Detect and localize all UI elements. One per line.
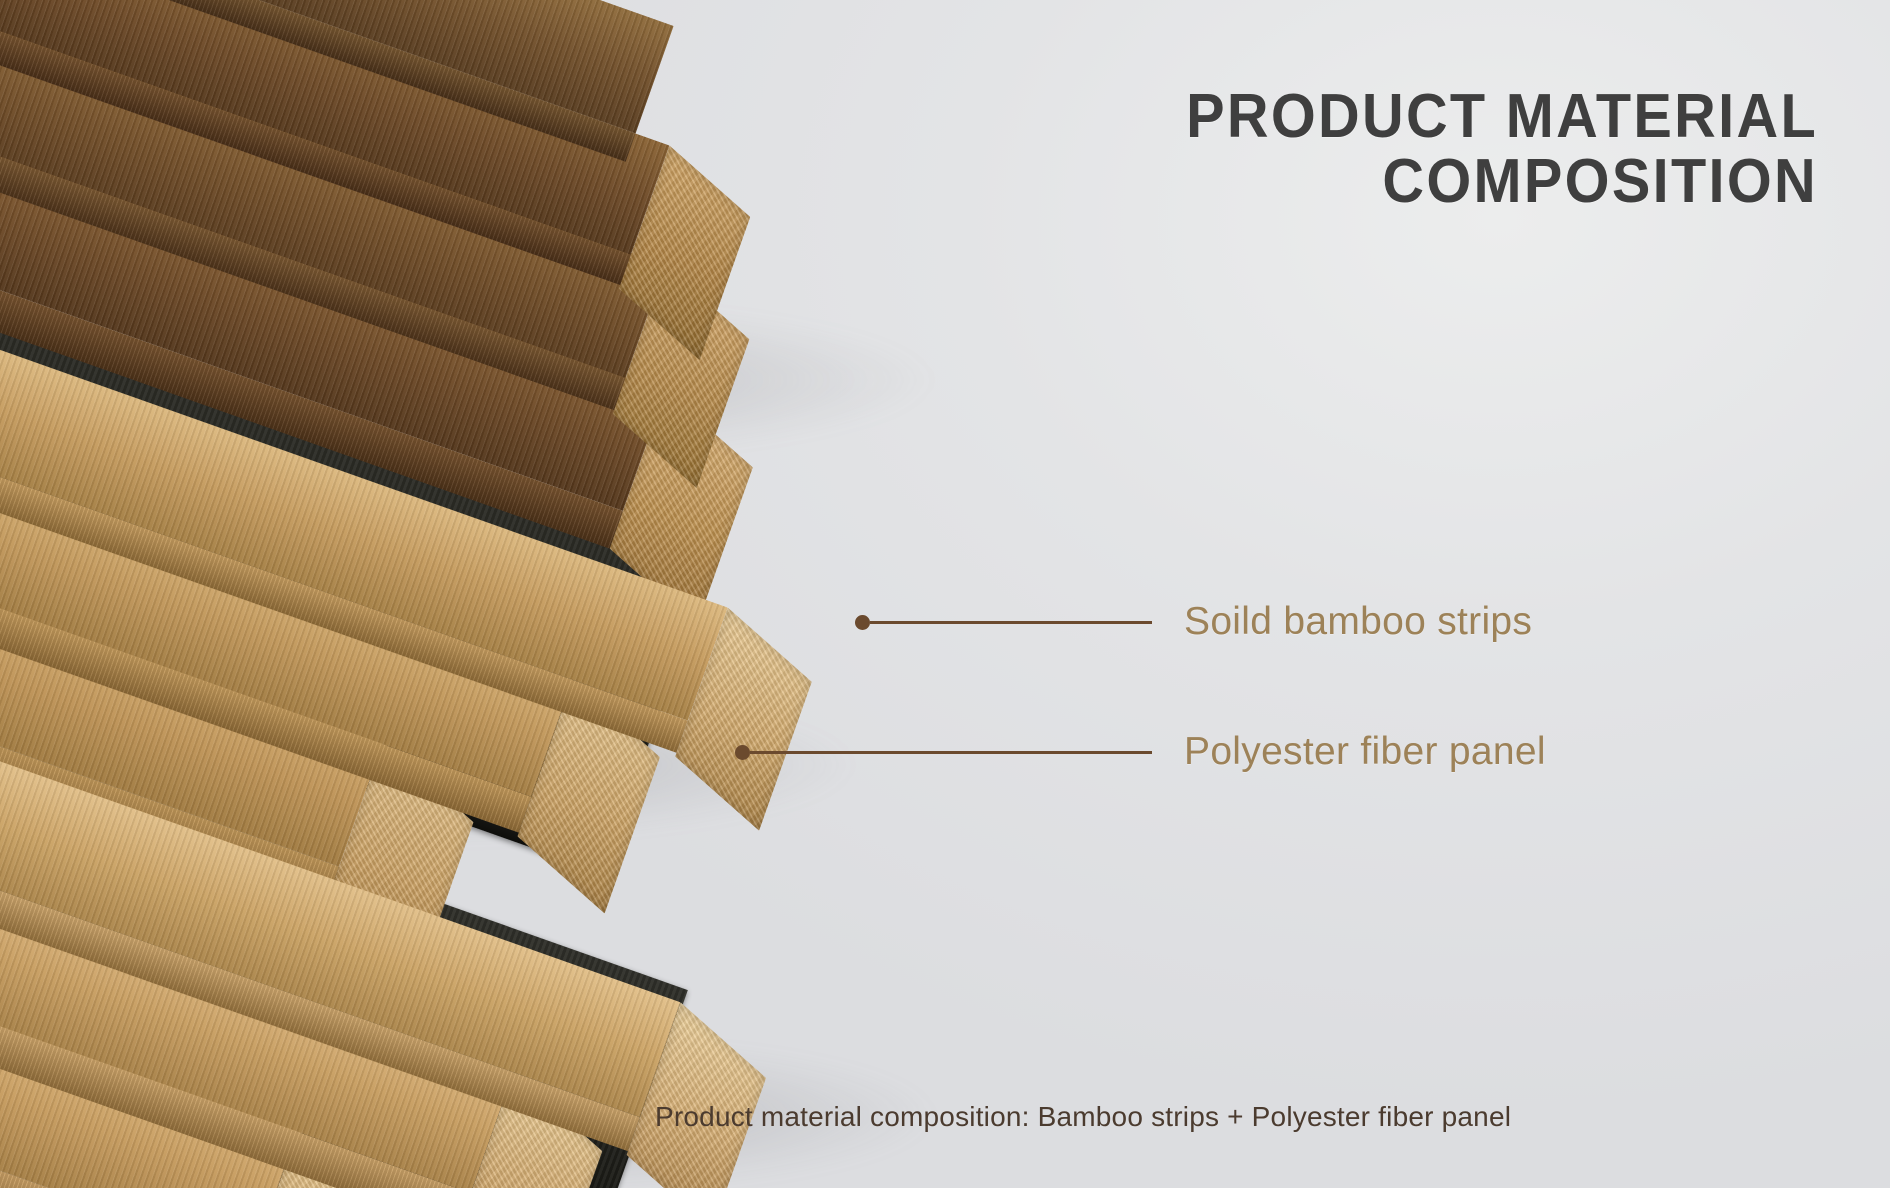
callout-fiber-panel: Polyester fiber panel bbox=[735, 730, 1546, 774]
callout-label-fiber-panel: Polyester fiber panel bbox=[1184, 730, 1546, 774]
footer-caption: Product material composition: Bamboo str… bbox=[655, 1101, 1511, 1133]
callout-label-bamboo-strips: Soild bamboo strips bbox=[1184, 600, 1532, 644]
callout-dot-icon bbox=[855, 615, 870, 630]
callout-leader-line bbox=[750, 751, 1152, 754]
callout-leader-line bbox=[870, 621, 1152, 624]
title-line-1: PRODUCT MATERIAL bbox=[1186, 82, 1818, 151]
title-line-2: COMPOSITION bbox=[888, 149, 1818, 215]
infographic-canvas: PRODUCT MATERIAL COMPOSITION Soild bambo… bbox=[0, 0, 1890, 1188]
callout-dot-icon bbox=[735, 745, 750, 760]
callout-bamboo-strips: Soild bamboo strips bbox=[855, 600, 1532, 644]
page-title: PRODUCT MATERIAL COMPOSITION bbox=[888, 84, 1818, 215]
